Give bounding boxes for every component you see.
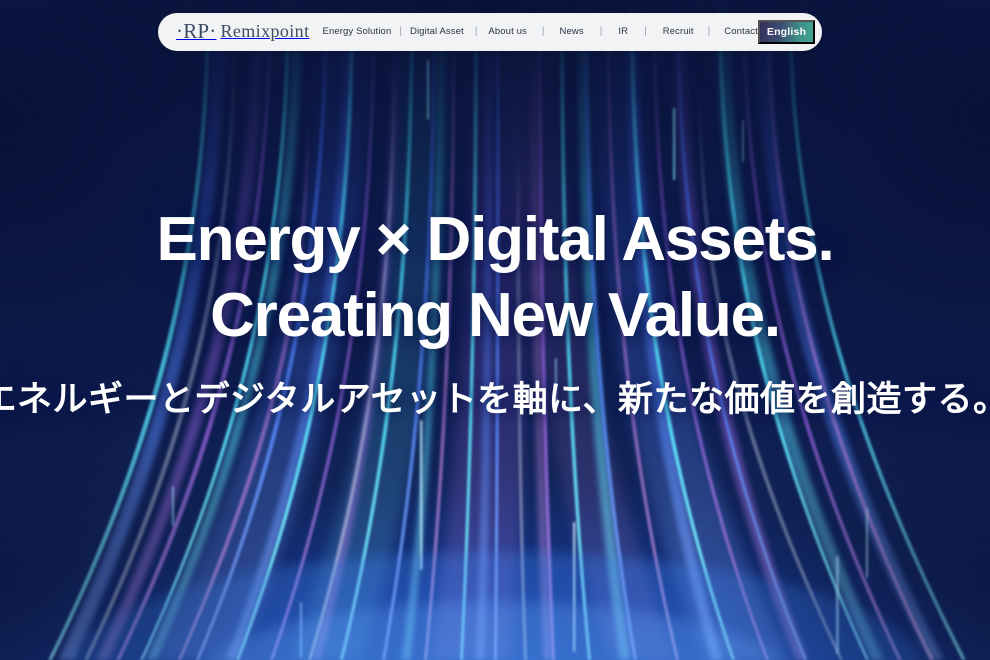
- nav-separator: |: [542, 27, 545, 37]
- nav-item-recruit[interactable]: Recruit: [663, 27, 694, 37]
- nav-item-news[interactable]: News: [560, 27, 584, 37]
- nav-item-about-us[interactable]: About us: [488, 27, 526, 37]
- light-streaks-background: [0, 0, 990, 660]
- nav-separator: |: [708, 27, 711, 37]
- hero-section: ·RP· Remixpoint Energy Solution | Digita…: [0, 0, 990, 660]
- nav-menu: Energy Solution | Digital Asset | About …: [322, 27, 757, 37]
- nav-separator: |: [644, 27, 647, 37]
- nav-separator: |: [475, 27, 478, 37]
- nav-item-ir[interactable]: IR: [618, 27, 628, 37]
- nav-separator: |: [600, 27, 603, 37]
- brand-name: Remixpoint: [220, 22, 309, 40]
- nav-item-energy-solution[interactable]: Energy Solution: [322, 27, 391, 37]
- brand-monogram-icon: ·RP·: [176, 21, 216, 42]
- nav-item-digital-asset[interactable]: Digital Asset: [410, 27, 464, 37]
- language-switch-button[interactable]: English: [758, 20, 815, 45]
- brand-logo-link[interactable]: ·RP· Remixpoint: [176, 22, 309, 43]
- nav-separator: |: [399, 27, 402, 37]
- nav-item-contact[interactable]: Contact: [724, 27, 758, 37]
- main-navigation-bar: ·RP· Remixpoint Energy Solution | Digita…: [158, 13, 822, 51]
